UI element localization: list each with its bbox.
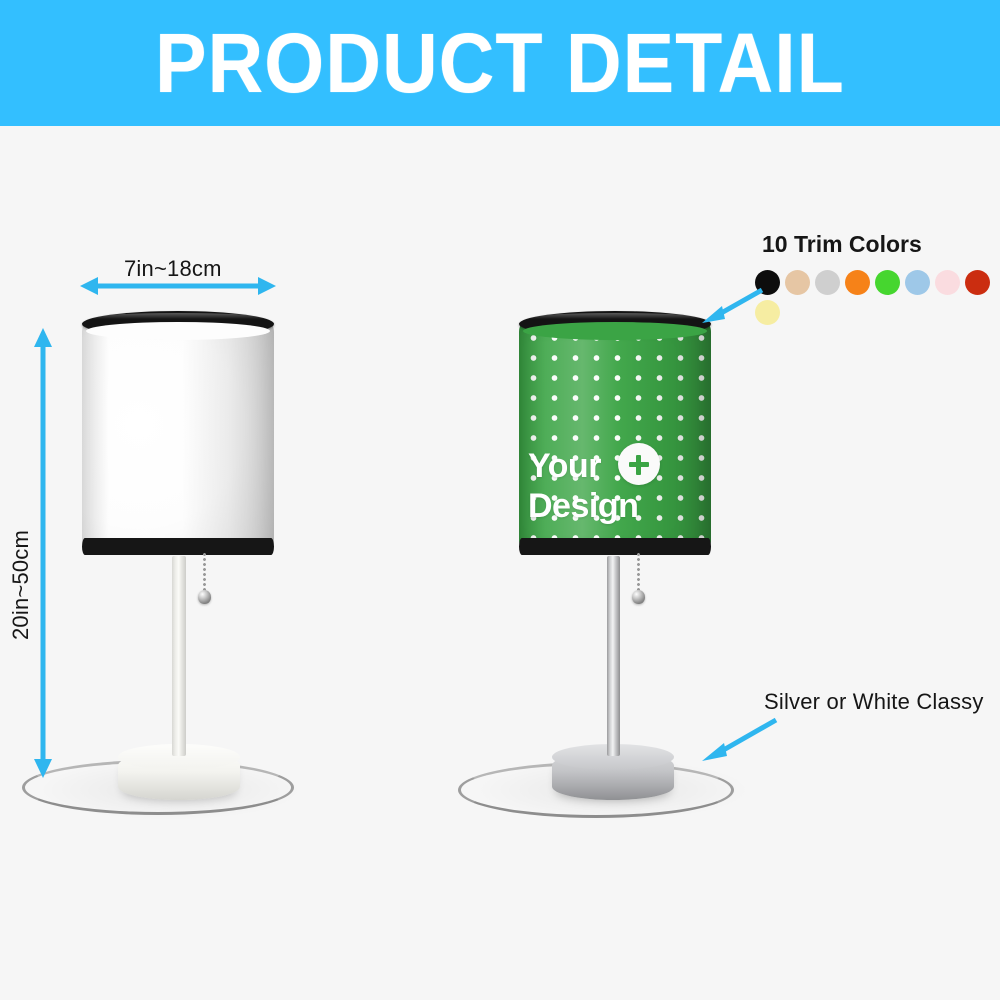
trim-swatch-tan[interactable] xyxy=(785,270,810,295)
pull-chain[interactable] xyxy=(203,552,206,594)
trim-colors-title: 10 Trim Colors xyxy=(762,231,922,258)
shade-gloss xyxy=(82,322,274,550)
base-material-label: Silver or White Classy xyxy=(764,689,984,715)
page-title: PRODUCT DETAIL xyxy=(155,21,845,105)
trim-swatch-dark-red[interactable] xyxy=(965,270,990,295)
shade-bottom-trim xyxy=(82,538,274,555)
lamp-pole xyxy=(172,556,186,756)
trim-colors-pointer-arrow xyxy=(700,286,766,324)
header-banner: PRODUCT DETAIL xyxy=(0,0,1000,126)
your-design-line1: Your xyxy=(528,450,601,483)
width-dimension-arrow xyxy=(80,272,276,300)
base-material-pointer-arrow xyxy=(700,716,780,762)
trim-swatch-orange[interactable] xyxy=(845,270,870,295)
product-detail-image: PRODUCT DETAIL xyxy=(0,0,1000,1000)
pull-chain-ball[interactable] xyxy=(632,590,645,604)
shade-bottom-trim xyxy=(519,538,711,555)
trim-swatch-light-blue[interactable] xyxy=(905,270,930,295)
lamp-shade xyxy=(82,322,274,550)
pull-chain-ball[interactable] xyxy=(198,590,211,604)
lamp-pole xyxy=(607,556,620,756)
height-dimension-arrow xyxy=(30,328,56,778)
trim-colors-swatch-list xyxy=(755,270,1000,325)
trim-swatch-gray[interactable] xyxy=(815,270,840,295)
trim-swatch-pink[interactable] xyxy=(935,270,960,295)
pull-chain[interactable] xyxy=(637,552,640,594)
trim-swatch-green[interactable] xyxy=(875,270,900,295)
plus-icon xyxy=(618,443,660,485)
shade-top-inner xyxy=(86,322,270,340)
your-design-overlay: Your Design xyxy=(528,443,708,523)
your-design-line2: Design xyxy=(528,490,708,523)
shade-top-inner xyxy=(523,322,707,340)
